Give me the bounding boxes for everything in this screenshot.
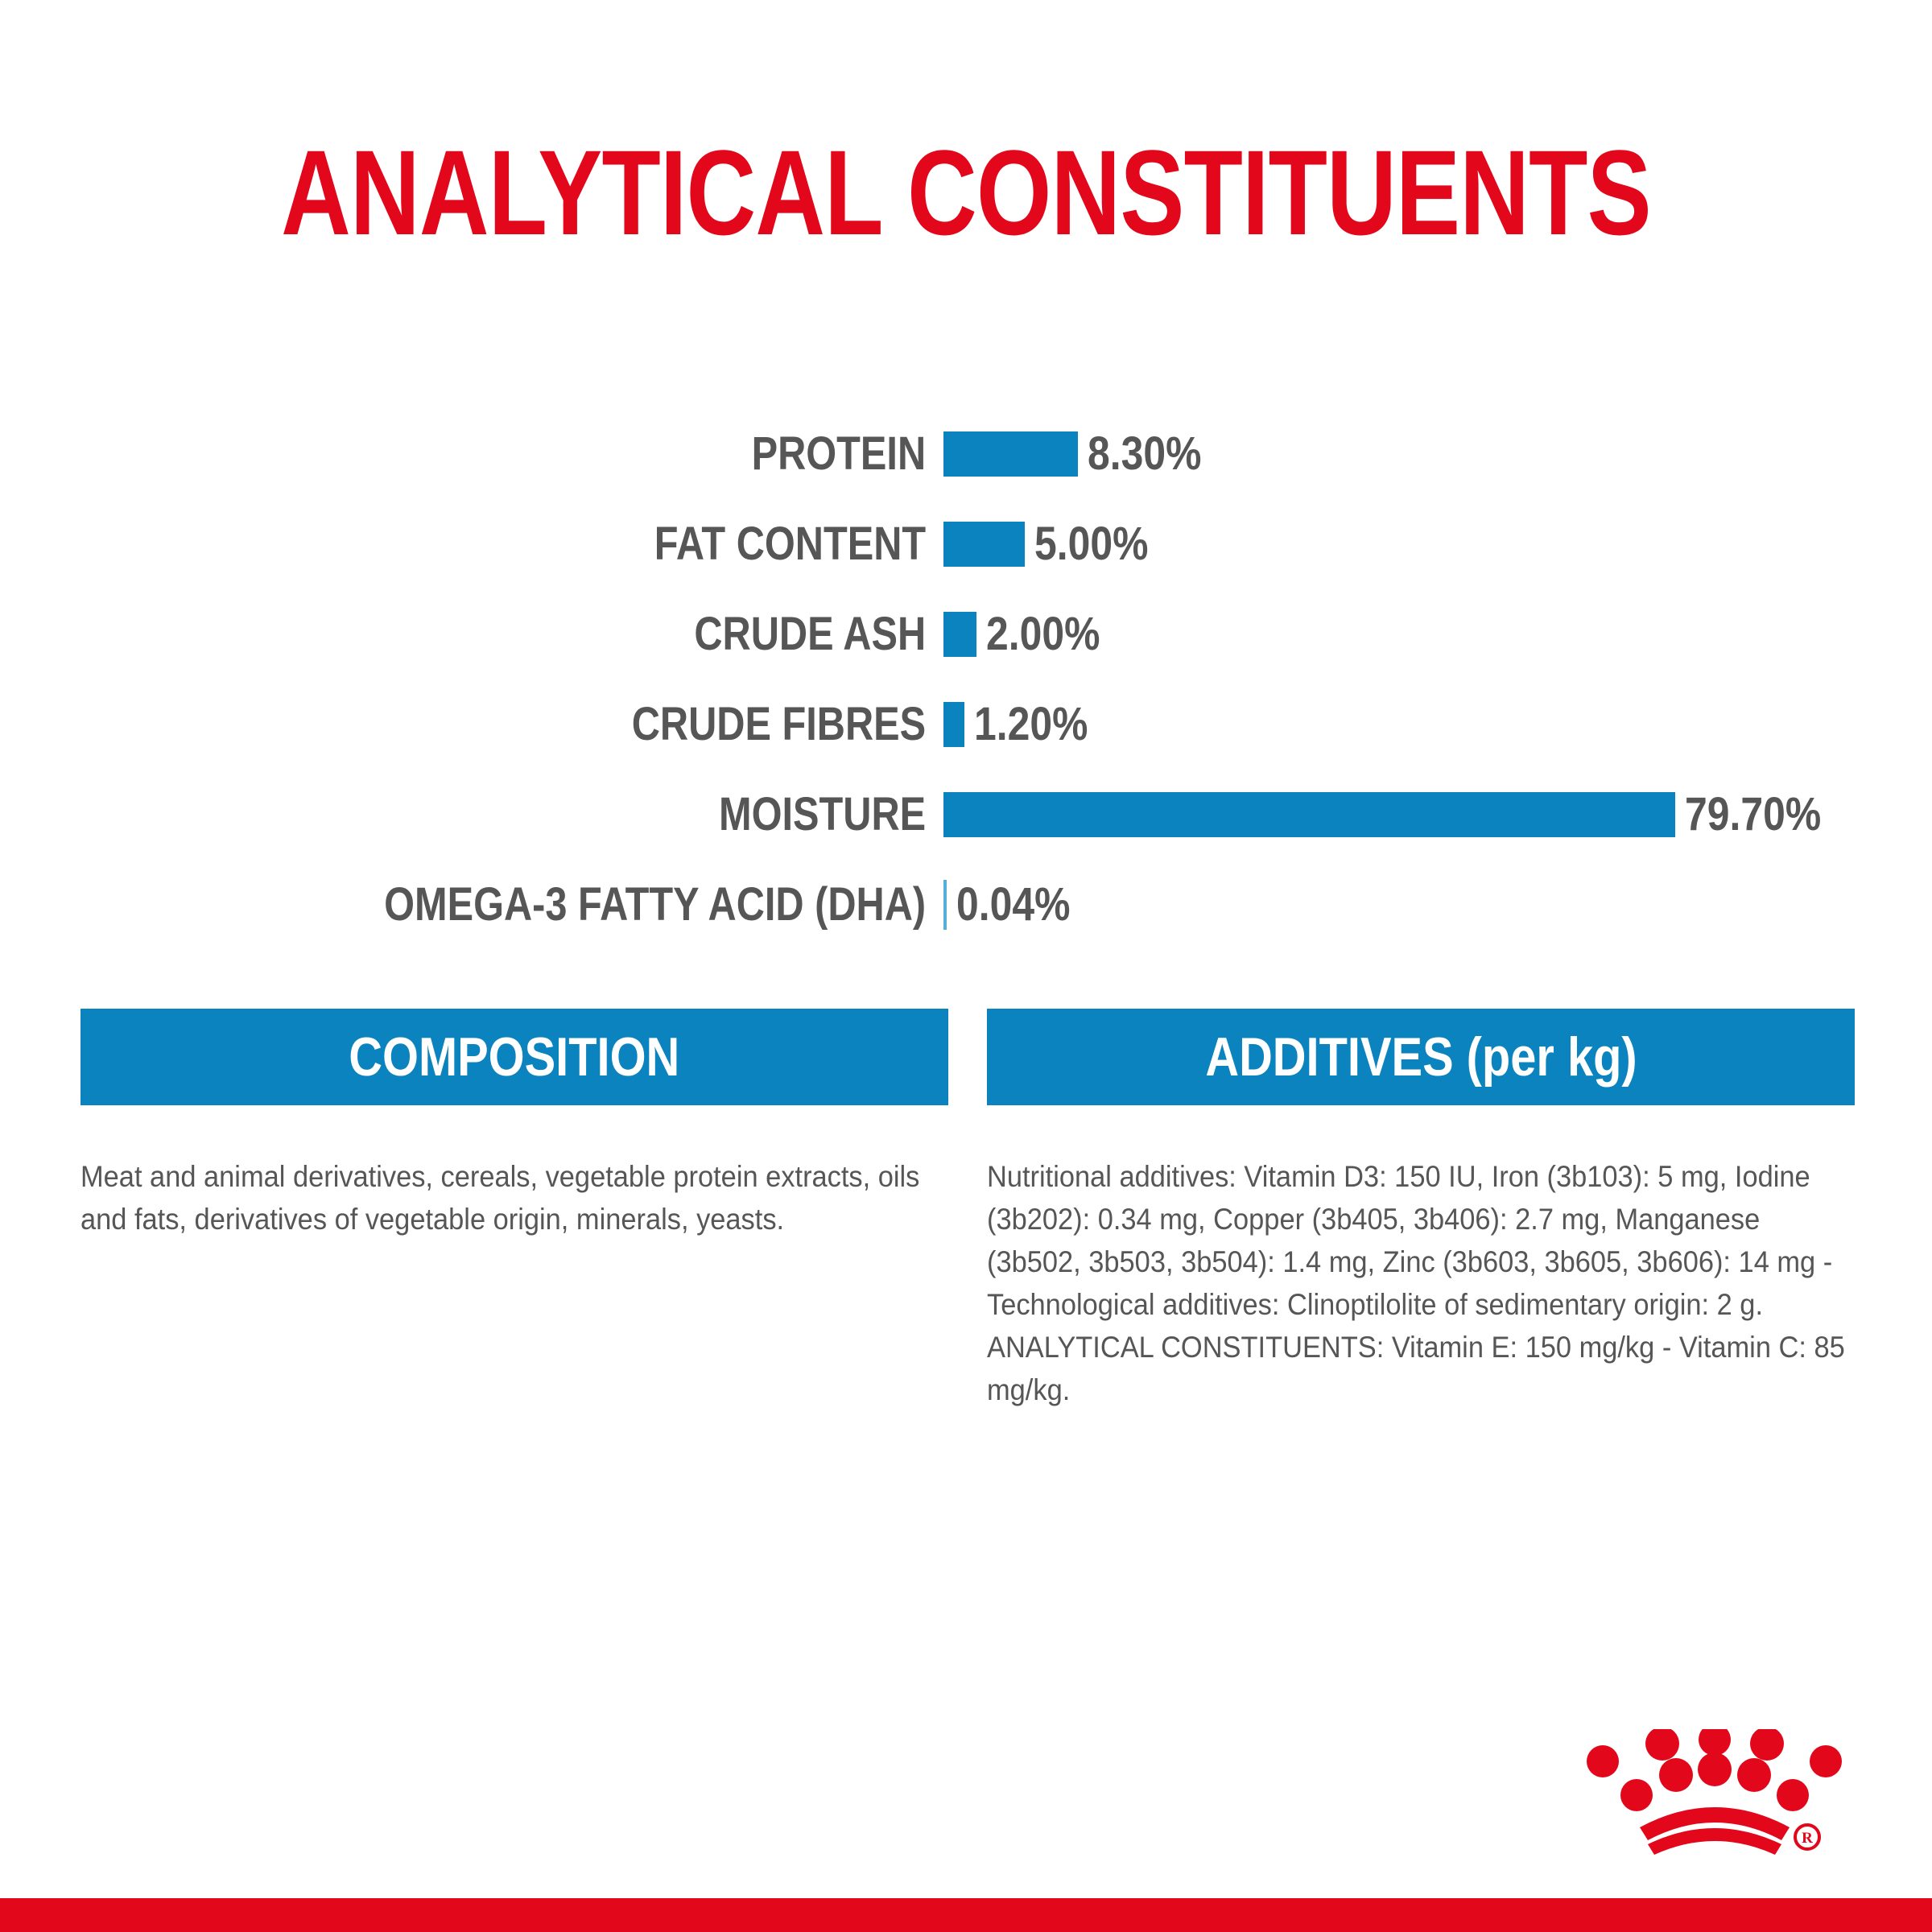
bar-row-protein: PROTEIN 8.30% (0, 409, 1932, 499)
bar-track-moisture: 79.70% (943, 790, 1932, 840)
bar-label-protein: PROTEIN (151, 431, 943, 477)
composition-header-label: COMPOSITION (349, 1030, 679, 1084)
nutrition-label-page: ANALYTICAL CONSTITUENTS PROTEIN 8.30% FA… (0, 0, 1932, 1932)
bar-label-fat-content: FAT CONTENT (151, 521, 943, 568)
additives-header: ADDITIVES (per kg) (987, 1009, 1855, 1105)
bar-track-crude-ash: 2.00% (943, 609, 1932, 659)
bar-label-omega-3-fatty-acid-dha: OMEGA-3 FATTY ACID (DHA) (151, 881, 943, 928)
bar-row-crude-fibres: CRUDE FIBRES 1.20% (0, 679, 1932, 770)
bar-row-moisture: MOISTURE 79.70% (0, 770, 1932, 860)
bar-track-omega-3-fatty-acid-dha: 0.04% (943, 880, 1932, 930)
additives-body-text: Nutritional additives: Vitamin D3: 150 I… (987, 1155, 1856, 1411)
composition-panel: COMPOSITION Meat and animal derivatives,… (80, 1009, 948, 1411)
composition-header: COMPOSITION (80, 1009, 948, 1105)
bar-fill-fat-content (943, 522, 1025, 567)
bar-row-omega-3-fatty-acid-dha: OMEGA-3 FATTY ACID (DHA) 0.04% (0, 860, 1932, 950)
bar-value-crude-fibres: 1.20% (974, 701, 1088, 748)
bar-value-crude-ash: 2.00% (986, 611, 1100, 658)
additives-header-label: ADDITIVES (per kg) (1205, 1030, 1637, 1084)
bar-fill-crude-ash (943, 612, 976, 657)
bar-value-omega-3-fatty-acid-dha: 0.04% (956, 881, 1070, 928)
composition-body-text: Meat and animal derivatives, cereals, ve… (80, 1155, 949, 1241)
bar-row-crude-ash: CRUDE ASH 2.00% (0, 589, 1932, 679)
bar-value-protein: 8.30% (1088, 431, 1201, 477)
bar-value-fat-content: 5.00% (1034, 521, 1148, 568)
bar-fill-moisture (943, 792, 1675, 837)
bar-label-crude-fibres: CRUDE FIBRES (151, 701, 943, 748)
page-title: ANALYTICAL CONSTITUENTS (193, 128, 1739, 257)
bar-row-fat-content: FAT CONTENT 5.00% (0, 499, 1932, 589)
bar-label-moisture: MOISTURE (151, 791, 943, 838)
royal-canin-crown-logo: R (1574, 1729, 1856, 1870)
additives-panel: ADDITIVES (per kg) Nutritional additives… (987, 1009, 1855, 1411)
svg-text:R: R (1802, 1830, 1813, 1847)
bar-label-crude-ash: CRUDE ASH (151, 611, 943, 658)
bar-track-crude-fibres: 1.20% (943, 700, 1932, 749)
bar-track-fat-content: 5.00% (943, 519, 1932, 569)
bar-fill-protein (943, 431, 1078, 477)
analytical-constituents-bar-chart: PROTEIN 8.30% FAT CONTENT 5.00% CRUDE AS… (0, 409, 1932, 950)
footer-red-stripe (0, 1898, 1932, 1932)
info-panels: COMPOSITION Meat and animal derivatives,… (80, 1009, 1855, 1411)
bar-fill-crude-fibres (943, 702, 964, 747)
bar-track-protein: 8.30% (943, 429, 1932, 479)
bar-value-moisture: 79.70% (1685, 791, 1821, 838)
bar-fill-omega-3-fatty-acid-dha (943, 880, 947, 930)
